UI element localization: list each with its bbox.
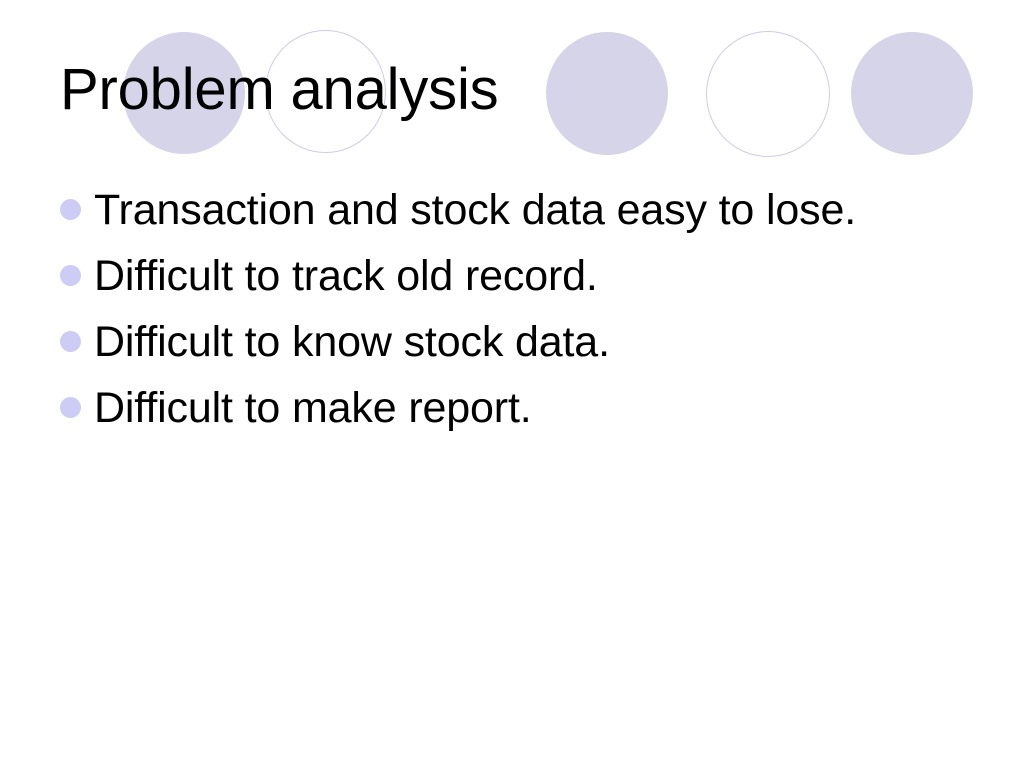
presentation-slide: Problem analysis Transaction and stock d… [0, 0, 1024, 768]
list-item: Difficult to make report. [60, 384, 1010, 450]
slide-bullet-list: Transaction and stock data easy to lose.… [60, 186, 1010, 450]
list-item: Difficult to know stock data. [60, 318, 1010, 384]
slide-title: Problem analysis [60, 61, 960, 119]
bullet-text: Difficult to know stock data. [94, 318, 610, 366]
bullet-text: Difficult to make report. [94, 384, 532, 432]
list-item: Difficult to track old record. [60, 252, 1010, 318]
bullet-text: Transaction and stock data easy to lose. [94, 186, 856, 234]
bullet-text: Difficult to track old record. [94, 252, 598, 300]
bullet-dot-icon [60, 265, 81, 286]
bullet-dot-icon [60, 331, 81, 352]
bullet-dot-icon [60, 397, 81, 418]
bullet-dot-icon [60, 199, 81, 220]
list-item: Transaction and stock data easy to lose. [60, 186, 1010, 252]
